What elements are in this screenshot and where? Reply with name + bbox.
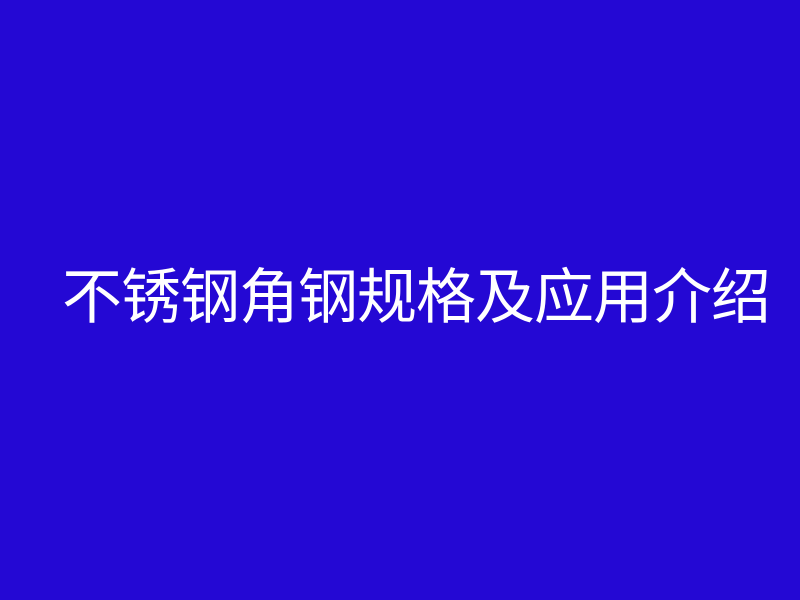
- slide-title: 不锈钢角钢规格及应用介绍: [62, 268, 770, 328]
- headline-block: 不锈钢角钢规格及应用介绍: [62, 258, 762, 338]
- slide-canvas: 不锈钢角钢规格及应用介绍: [0, 0, 800, 600]
